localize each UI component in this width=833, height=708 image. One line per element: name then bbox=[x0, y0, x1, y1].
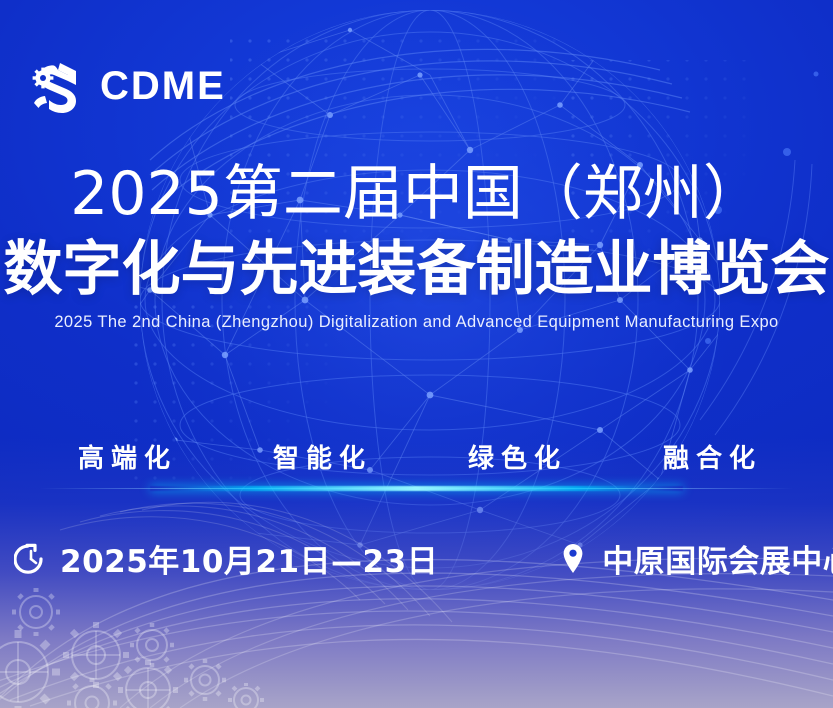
keyword-list: 高端化 智能化 绿色化 融合化 bbox=[0, 438, 833, 475]
event-venue-block: 中原国际会展中心 bbox=[556, 536, 833, 581]
brand-wordmark: CDME bbox=[100, 66, 226, 106]
event-venue-text: 中原国际会展中心 bbox=[602, 536, 833, 581]
keyword-item: 智能化 bbox=[222, 438, 417, 475]
event-date-text: 2025年10月21日—23日 bbox=[60, 536, 438, 581]
keyword-item: 融合化 bbox=[612, 438, 807, 475]
glow-divider bbox=[0, 484, 833, 494]
cdme-gear-s-logo-icon bbox=[24, 55, 86, 117]
event-date-block: 2025年10月21日—23日 bbox=[14, 536, 438, 581]
title-sub: 数字化与先进装备制造业博览会 bbox=[0, 234, 833, 304]
location-pin-icon bbox=[556, 541, 590, 577]
clock-icon bbox=[14, 541, 48, 577]
title-main: 2025第二届中国（郑州） bbox=[0, 160, 833, 230]
keyword-item: 高端化 bbox=[27, 438, 222, 475]
keyword-item: 绿色化 bbox=[417, 438, 612, 475]
expo-banner: CDME 2025第二届中国（郑州） 数字化与先进装备制造业博览会 2025 T… bbox=[0, 0, 833, 708]
event-info-row: 2025年10月21日—23日 中原国际会展中心 bbox=[0, 536, 833, 581]
headline-block: 2025第二届中国（郑州） 数字化与先进装备制造业博览会 2025 The 2n… bbox=[0, 160, 833, 332]
brand-logo[interactable]: CDME bbox=[24, 55, 226, 117]
divider-glow-line bbox=[150, 486, 683, 491]
title-english: 2025 The 2nd China (Zhengzhou) Digitaliz… bbox=[0, 313, 833, 332]
